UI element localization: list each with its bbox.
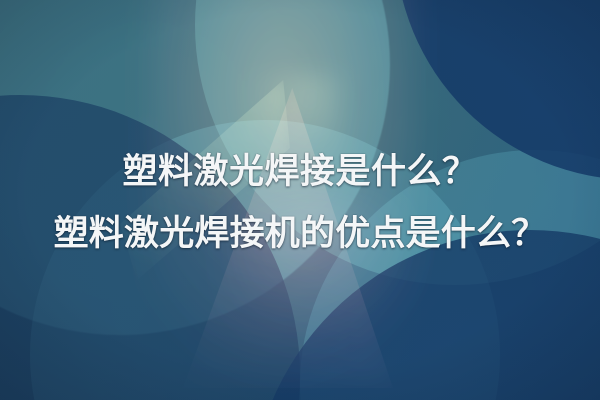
headline-line-2: 塑料激光焊接机的优点是什么？ [0, 203, 600, 265]
promo-banner: 塑料激光焊接是什么？ 塑料激光焊接机的优点是什么？ [0, 0, 600, 400]
headline-line-1: 塑料激光焊接是什么？ [0, 141, 600, 203]
banner-headline: 塑料激光焊接是什么？ 塑料激光焊接机的优点是什么？ [0, 141, 600, 266]
